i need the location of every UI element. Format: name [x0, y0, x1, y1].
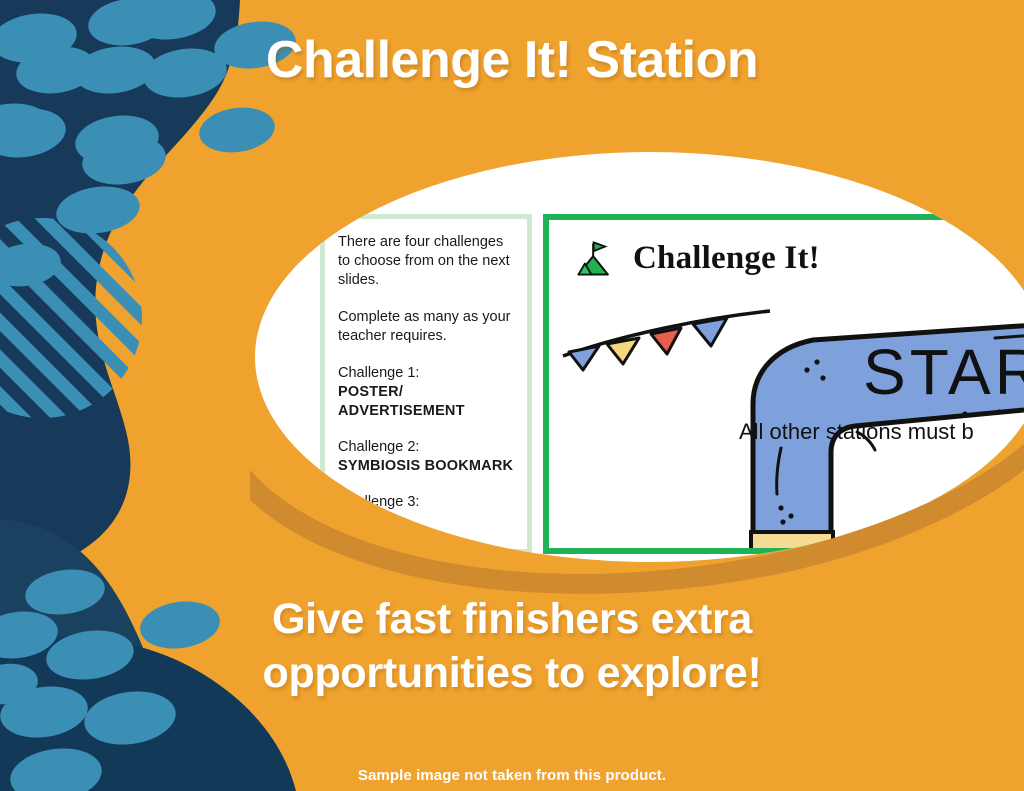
subheadline: Give fast finishers extra opportunities …: [0, 592, 1024, 700]
page-title: Challenge It! Station: [0, 30, 1024, 90]
subheadline-line-2: opportunities to explore!: [0, 646, 1024, 700]
subheadline-line-1: Give fast finishers extra: [0, 592, 1024, 646]
footer-disclaimer: Sample image not taken from this product…: [0, 767, 1024, 784]
poster-canvas: Challenge It! Station There are four cha…: [0, 0, 1024, 791]
